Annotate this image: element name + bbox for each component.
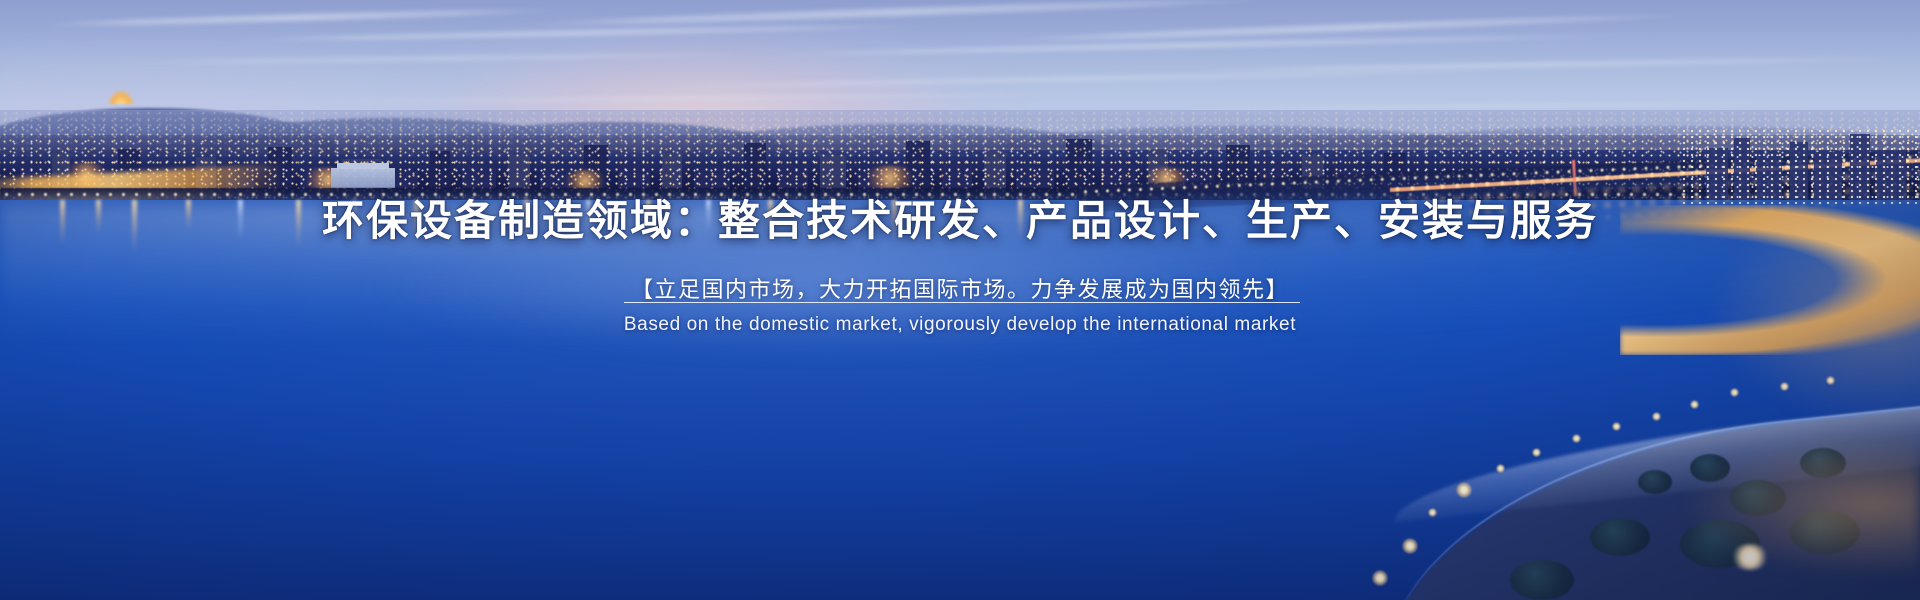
text-overlay: 环保设备制造领域：整合技术研发、产品设计、生产、安装与服务 【立足国内市场，大力… — [0, 0, 1920, 600]
banner-subheadline: 【立足国内市场，大力开拓国际市场。力争发展成为国内领先】 — [0, 272, 1920, 304]
banner-headline: 环保设备制造领域：整合技术研发、产品设计、生产、安装与服务 — [0, 198, 1920, 244]
hero-banner: 环保设备制造领域：整合技术研发、产品设计、生产、安装与服务 【立足国内市场，大力… — [0, 0, 1920, 600]
text-divider — [624, 302, 1300, 303]
banner-english-tagline: Based on the domestic market, vigorously… — [0, 314, 1920, 336]
